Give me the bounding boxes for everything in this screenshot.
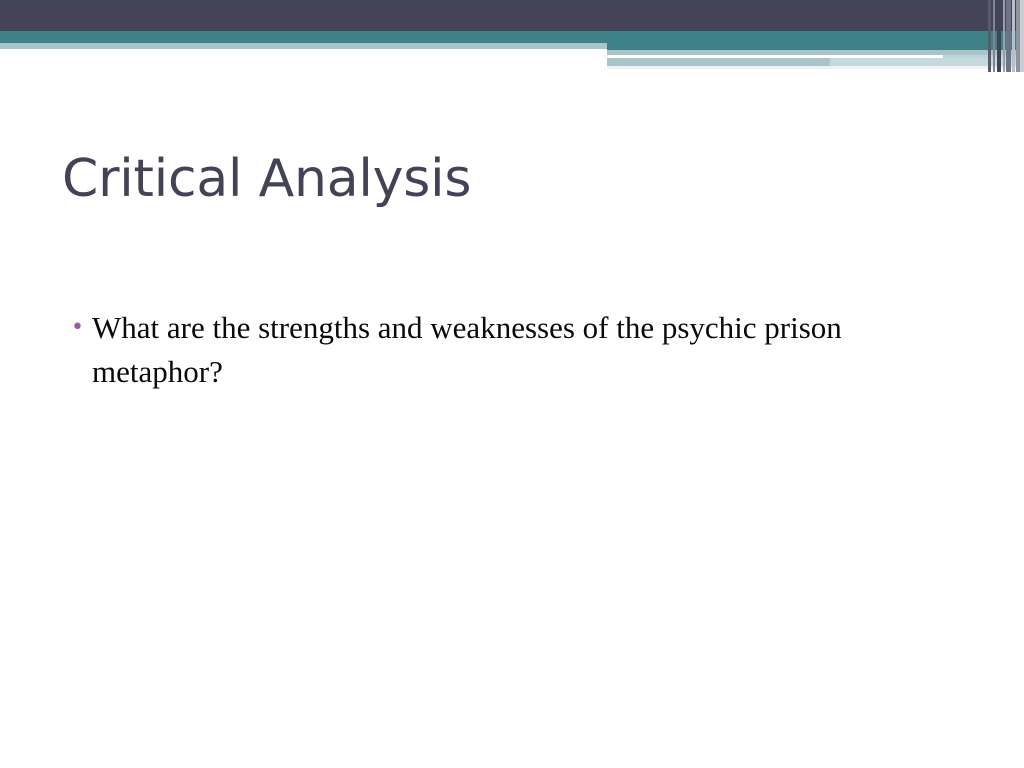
accent-stripe — [1020, 0, 1024, 72]
accent-stripe — [988, 0, 991, 72]
page-title: Critical Analysis — [62, 150, 962, 210]
header-vertical-stripes — [988, 0, 1024, 72]
slide: Critical Analysis •What are the strength… — [0, 0, 1024, 768]
accent-stripe — [1003, 0, 1005, 72]
header-pale-wash — [607, 66, 1024, 69]
header-dark-band — [0, 0, 1024, 31]
bullet-list: •What are the strengths and weaknesses o… — [62, 306, 932, 400]
header-teal-band-left — [0, 31, 607, 43]
header-banner-decoration — [0, 0, 1024, 90]
accent-stripe — [1006, 0, 1011, 72]
bullet-marker-icon: • — [62, 306, 92, 350]
accent-stripe — [1012, 0, 1015, 72]
accent-stripe — [993, 0, 995, 72]
bullet-text: What are the strengths and weaknesses of… — [92, 306, 897, 394]
list-item: •What are the strengths and weaknesses o… — [62, 306, 932, 394]
header-pale-band-left — [0, 43, 607, 49]
accent-stripe — [997, 0, 1001, 72]
header-teal-band-right — [607, 31, 1024, 50]
